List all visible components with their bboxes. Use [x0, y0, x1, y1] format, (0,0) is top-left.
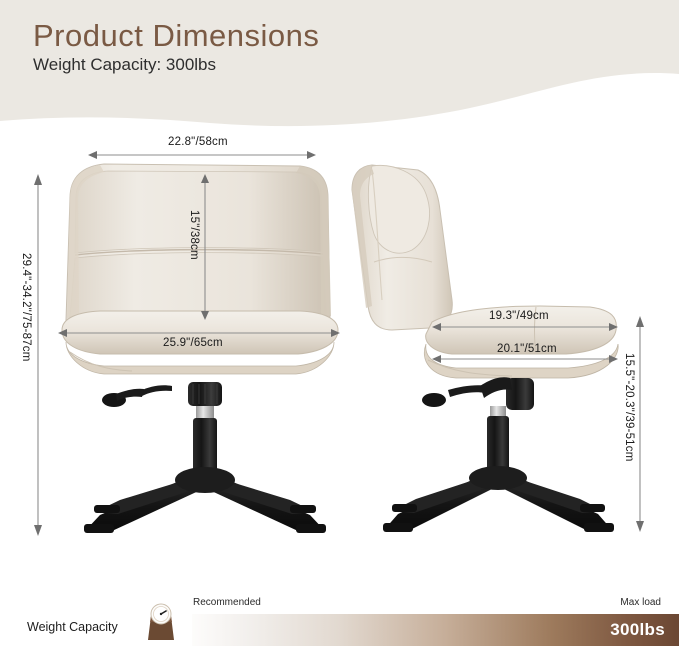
chair-illustrations: [0, 0, 679, 560]
weight-capacity-gradient-bar: 300lbs: [192, 614, 679, 646]
bathroom-scale-icon: [143, 600, 179, 642]
dimension-label-seat-depth-top: 19.3"/49cm: [489, 310, 549, 322]
bar-label-recommended: Recommended: [193, 597, 261, 608]
bar-label-max-load: Max load: [620, 597, 661, 608]
dimension-label-seat-width: 25.9"/65cm: [163, 337, 223, 349]
front-base: [84, 467, 326, 533]
dimension-label-top-width: 22.8"/58cm: [168, 136, 228, 148]
dimension-label-seat-height: 15.5"-20.3"/39-51cm: [623, 353, 635, 462]
dimension-label-seat-depth-bottom: 20.1"/51cm: [497, 343, 557, 355]
side-view-chair: [352, 165, 618, 532]
infographic-canvas: Product Dimensions Weight Capacity: 300l…: [0, 0, 679, 646]
dimension-label-backrest-height: 15"/38cm: [188, 210, 200, 260]
weight-capacity-value: 300lbs: [610, 620, 665, 640]
side-base: [383, 466, 614, 532]
weight-capacity-label: Weight Capacity: [27, 620, 118, 634]
dimension-label-total-height: 29.4"-34.2"/75-87cm: [20, 253, 32, 362]
